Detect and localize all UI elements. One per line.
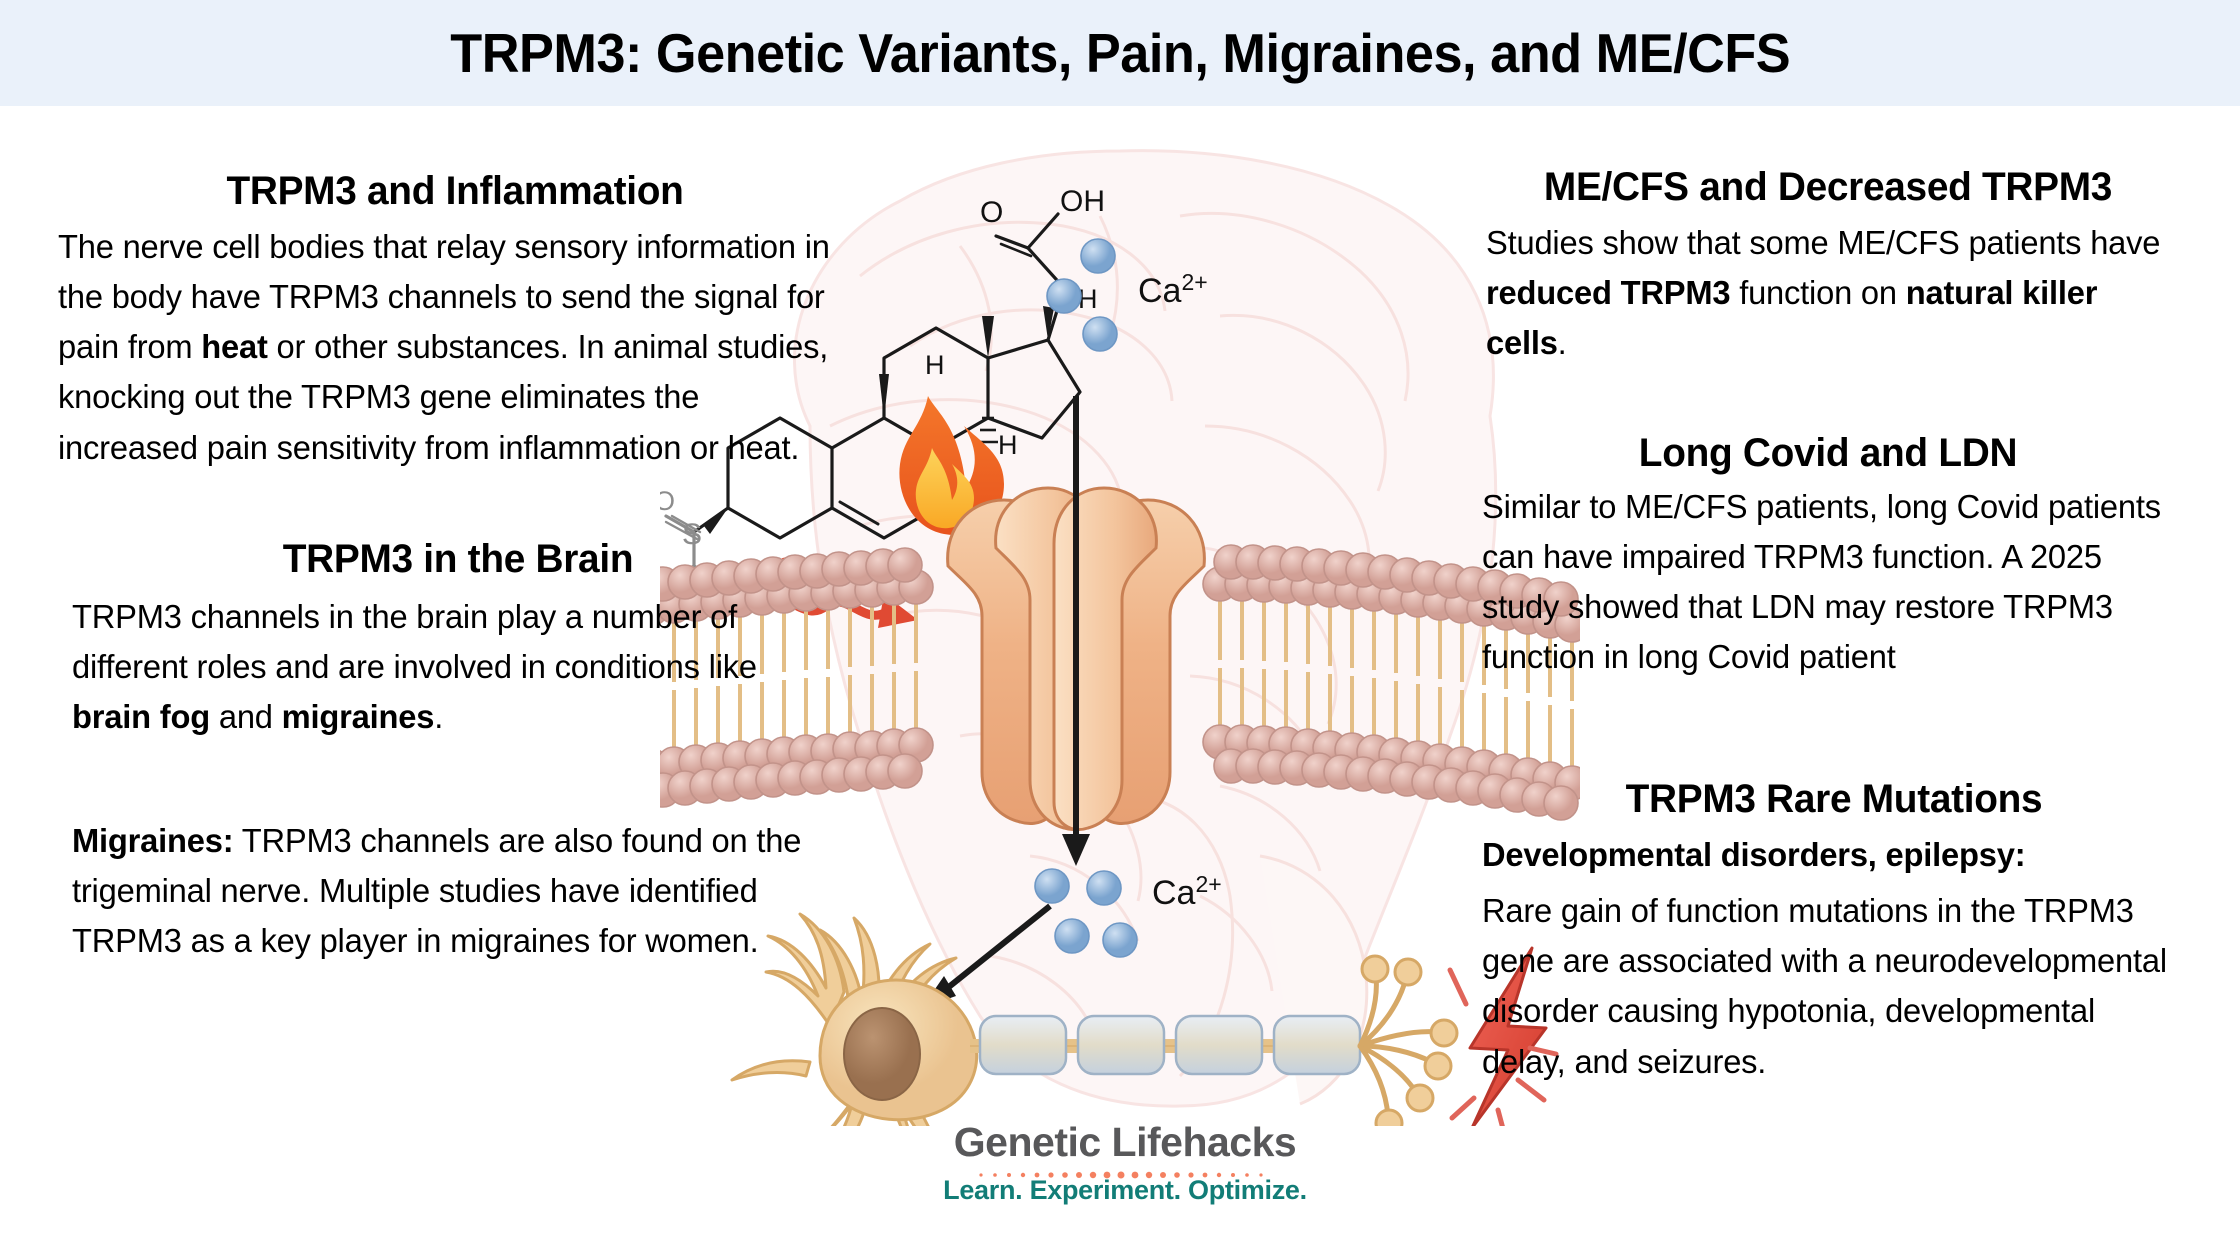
section-mecfs-decreased-trpm3: ME/CFS and Decreased TRPM3 Studies show …: [1478, 164, 2178, 368]
body-mecfs-decreased-trpm3: Studies show that some ME/CFS patients h…: [1486, 218, 2171, 368]
heading-trpm3-and-inflammation: TRPM3 and Inflammation: [74, 168, 836, 214]
logo-tagline: Learn. Experiment. Optimize.: [920, 1177, 1330, 1204]
body-trpm3-rare-mutations: Rare gain of function mutations in the T…: [1482, 886, 2171, 1087]
heading-trpm3-rare-mutations: TRPM3 Rare Mutations: [1500, 776, 2167, 822]
genetic-lifehacks-logo: Genetic Lifehacks Learn. Experiment. Opt…: [920, 1122, 1330, 1204]
logo-brand-text: Genetic Lifehacks: [920, 1122, 1330, 1163]
page-header: TRPM3: Genetic Variants, Pain, Migraines…: [0, 0, 2240, 106]
page-title: TRPM3: Genetic Variants, Pain, Migraines…: [450, 21, 1790, 85]
heading-long-covid-and-ldn: Long Covid and LDN: [1489, 430, 2168, 476]
label-o-sulfate-1: O: [660, 486, 675, 516]
infographic-page: TRPM3: Genetic Variants, Pain, Migraines…: [0, 0, 2240, 1260]
heading-mecfs-decreased-trpm3: ME/CFS and Decreased TRPM3: [1489, 164, 2168, 210]
section-trpm3-rare-mutations: TRPM3 Rare Mutations Developmental disor…: [1478, 776, 2178, 1087]
section-trpm3-and-inflammation: TRPM3 and Inflammation The nerve cell bo…: [58, 168, 848, 473]
section-migraines: Migraines: TRPM3 channels are also found…: [58, 816, 818, 966]
body-trpm3-and-inflammation: The nerve cell bodies that relay sensory…: [58, 222, 840, 473]
label-oh-carboxyl: OH: [1060, 185, 1105, 218]
label-o-carbonyl: O: [980, 196, 1003, 229]
label-h-14: H: [998, 430, 1018, 460]
section-long-covid-and-ldn: Long Covid and LDN Similar to ME/CFS pat…: [1478, 430, 2178, 683]
body-trpm3-in-the-brain: TRPM3 channels in the brain play a numbe…: [72, 592, 840, 742]
lead-developmental-disorders: Developmental disorders, epilepsy:: [1482, 830, 2171, 880]
body-long-covid-and-ldn: Similar to ME/CFS patients, long Covid p…: [1482, 482, 2171, 683]
section-trpm3-in-the-brain: TRPM3 in the Brain TRPM3 channels in the…: [58, 536, 848, 742]
label-h-8: H: [925, 350, 945, 380]
logo-dot-divider: [975, 1166, 1275, 1175]
body-migraines: Migraines: TRPM3 channels are also found…: [72, 816, 811, 966]
heading-trpm3-in-the-brain: TRPM3 in the Brain: [80, 536, 837, 582]
